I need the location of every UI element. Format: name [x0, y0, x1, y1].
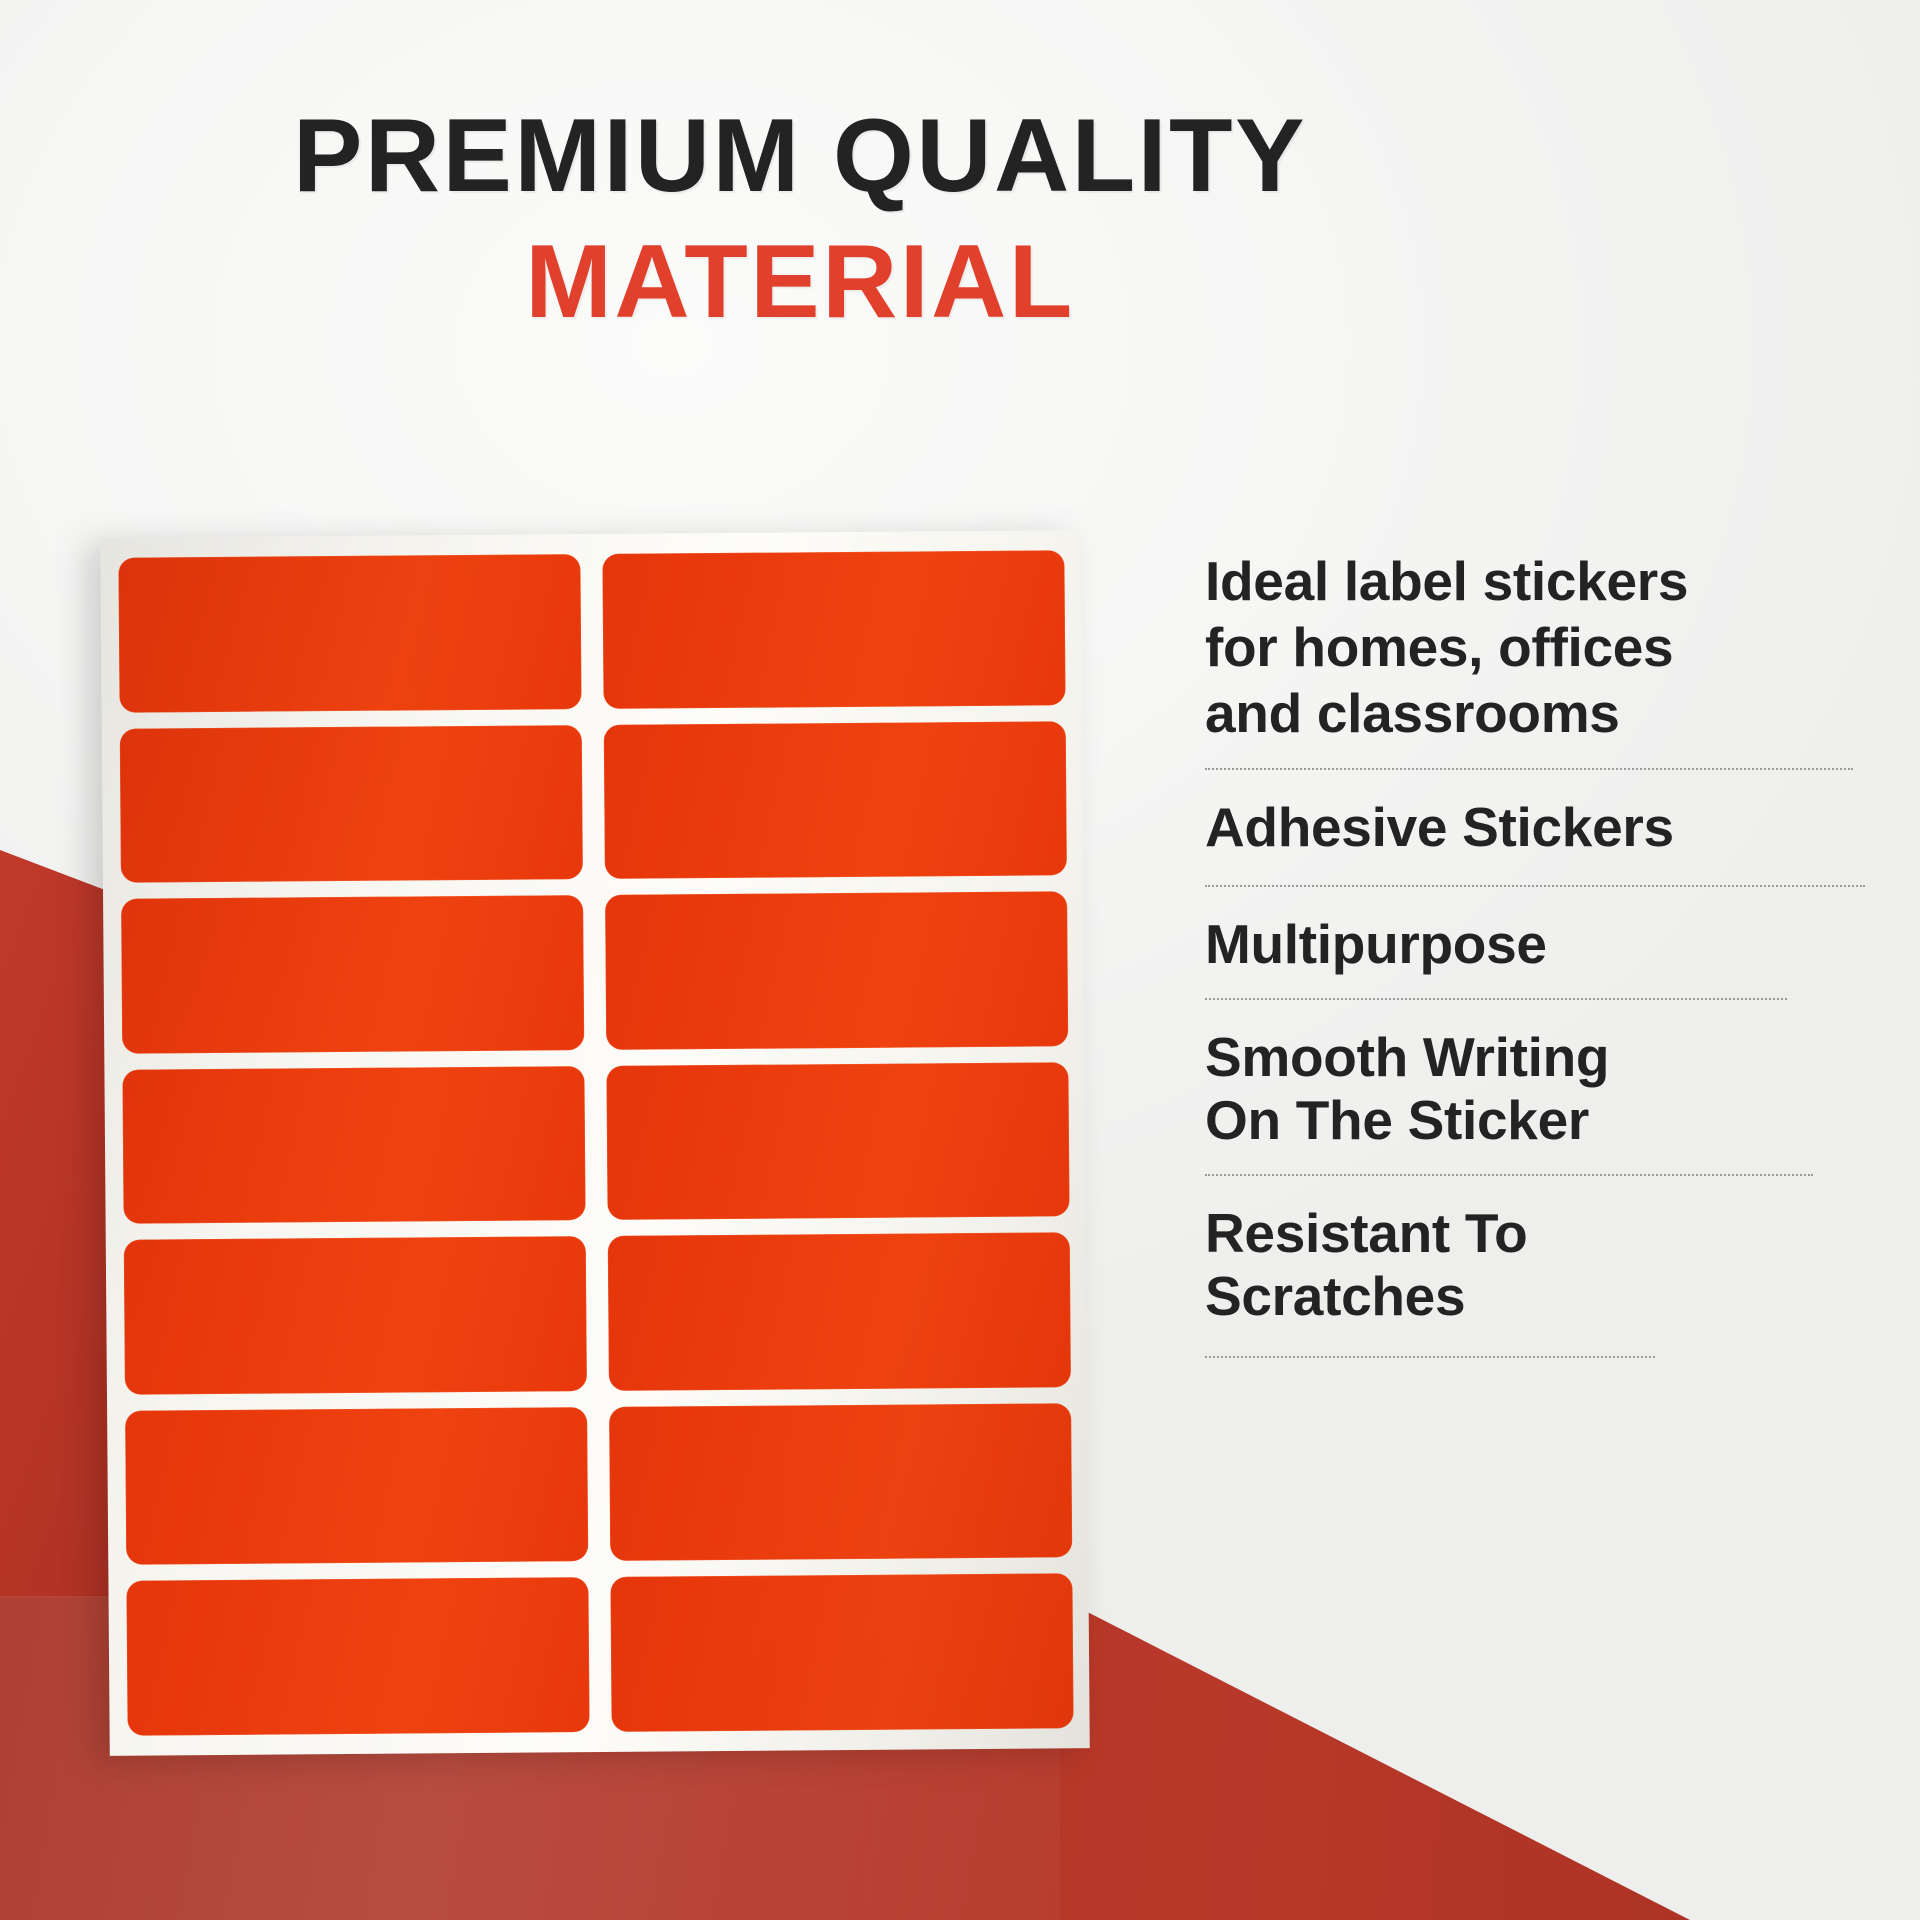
sticker-label [609, 1403, 1072, 1561]
feature-divider [1205, 1174, 1813, 1176]
sticker-label [602, 550, 1065, 708]
feature-item: Adhesive Stickers [1205, 796, 1895, 887]
feature-text: Multipurpose [1205, 913, 1895, 976]
feature-text: Resistant To Scratches [1205, 1202, 1895, 1328]
feature-divider [1205, 1356, 1655, 1358]
feature-divider [1205, 768, 1853, 770]
banner-header: PREMIUM QUALITY MATERIAL [0, 104, 1600, 334]
sticker-label [610, 1574, 1073, 1732]
feature-item: Resistant To Scratches [1205, 1202, 1895, 1358]
sticker-label [124, 1236, 587, 1394]
sticker-label [608, 1233, 1071, 1391]
feature-item: Ideal label stickers for homes, offices … [1205, 548, 1895, 770]
sticker-label [606, 1062, 1069, 1220]
feature-text: Ideal label stickers for homes, offices … [1205, 548, 1895, 746]
feature-item: Smooth Writing On The Sticker [1205, 1026, 1895, 1176]
feature-divider [1205, 885, 1865, 887]
sticker-label [125, 1407, 588, 1565]
sticker-label [121, 895, 584, 1053]
sticker-label [605, 891, 1068, 1049]
feature-list: Ideal label stickers for homes, offices … [1205, 548, 1895, 1384]
sticker-label [118, 554, 581, 712]
product-image-sticker-sheet [105, 534, 1085, 1752]
feature-text: Smooth Writing On The Sticker [1205, 1026, 1895, 1152]
feature-text: Adhesive Stickers [1205, 796, 1895, 859]
feature-item: Multipurpose [1205, 913, 1895, 1000]
sticker-label [122, 1066, 585, 1224]
sticker-label [126, 1577, 589, 1735]
sticker-sheet-backing [100, 530, 1090, 1756]
headline-line-2: MATERIAL [0, 230, 1600, 334]
headline-line-1: PREMIUM QUALITY [0, 104, 1600, 208]
sticker-label [604, 721, 1067, 879]
feature-divider [1205, 998, 1787, 1000]
promo-banner: PREMIUM QUALITY MATERIAL Ideal label sti… [0, 0, 1920, 1920]
sticker-label [120, 725, 583, 883]
